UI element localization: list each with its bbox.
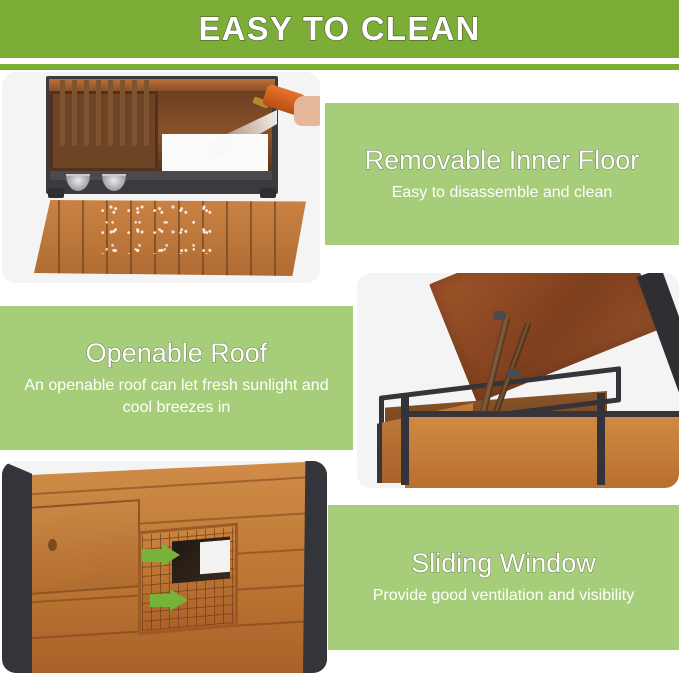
- frame-foot: [48, 188, 64, 198]
- door-slat: [132, 80, 137, 146]
- door-slat: [108, 80, 113, 146]
- slide-arrow-tail: [150, 594, 172, 607]
- page-title: EASY TO CLEAN: [198, 10, 480, 48]
- photo-openable-roof: [357, 273, 679, 488]
- frame-top-wood-rail: [49, 79, 275, 91]
- door-slat: [84, 80, 89, 146]
- feature-subtitle: Provide good ventilation and visibility: [373, 585, 634, 607]
- frame-foot: [260, 188, 276, 198]
- feature-panel-openable-roof: Openable Roof An openable roof can let f…: [0, 306, 353, 450]
- water-droplets: [98, 204, 218, 254]
- wall-access-panel: [30, 499, 140, 595]
- door-slat: [120, 80, 125, 146]
- hinge-bracket: [493, 311, 506, 320]
- photo-window-scene: [2, 461, 327, 673]
- header-banner: EASY TO CLEAN: [0, 0, 679, 58]
- floor-plank-seam: [226, 200, 228, 276]
- slatted-door: [50, 91, 158, 171]
- slide-direction-arrow-icon: [170, 589, 188, 611]
- door-slat: [72, 80, 77, 146]
- house-front-wall: [405, 411, 679, 488]
- floor-plank-seam: [82, 200, 84, 276]
- corner-post: [597, 393, 605, 485]
- door-slat: [96, 80, 101, 146]
- panel-knob: [48, 539, 57, 551]
- feature-title: Sliding Window: [411, 548, 596, 579]
- feature-panel-removable-inner-floor: Removable Inner Floor Easy to disassembl…: [325, 103, 679, 245]
- header-divider-rule: [0, 64, 679, 70]
- door-slat: [60, 80, 65, 146]
- feature-subtitle: An openable roof can let fresh sunlight …: [20, 375, 333, 418]
- slide-arrow-tail: [142, 549, 164, 562]
- door-slat: [144, 80, 149, 146]
- feature-panel-sliding-window: Sliding Window Provide good ventilation …: [328, 505, 679, 650]
- feature-title: Openable Roof: [86, 338, 268, 369]
- hinge-bracket: [507, 369, 520, 378]
- house-corner-post-left: [2, 461, 32, 673]
- photo-roof-scene: [357, 273, 679, 488]
- feature-title: Removable Inner Floor: [365, 145, 640, 176]
- house-corner-post-right: [303, 461, 327, 673]
- infographic-page: EASY TO CLEAN: [0, 0, 679, 673]
- photo-inner-floor-scene: [2, 72, 320, 283]
- photo-sliding-window: [2, 461, 327, 673]
- feature-subtitle: Easy to disassemble and clean: [392, 182, 613, 204]
- floor-plank-seam: [250, 200, 252, 276]
- photo-removable-inner-floor: [2, 72, 320, 283]
- hand: [294, 96, 320, 126]
- slide-direction-arrow-icon: [162, 544, 180, 566]
- floor-plank-seam: [58, 200, 60, 276]
- window-daylight: [200, 540, 230, 575]
- floor-plank-seam: [274, 200, 276, 276]
- corner-post: [401, 393, 409, 485]
